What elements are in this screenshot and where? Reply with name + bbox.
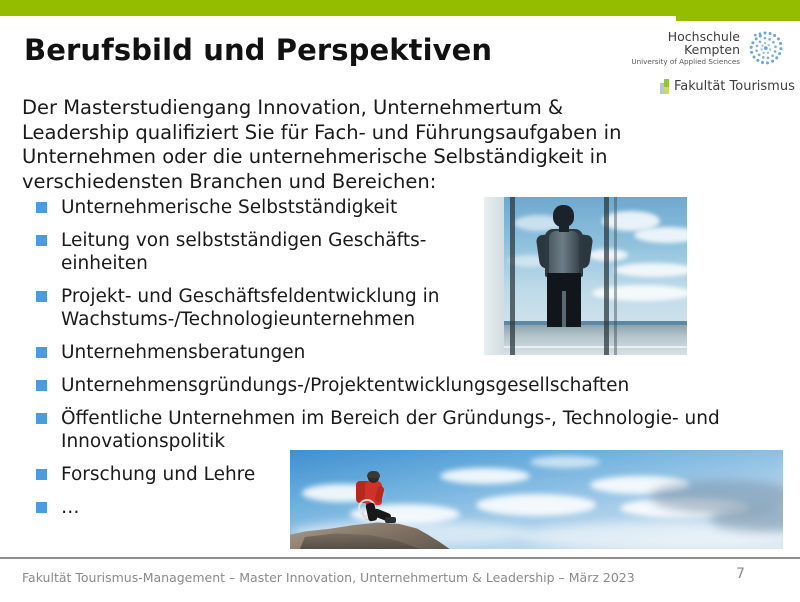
logo-line-2: Kempten	[631, 43, 740, 56]
list-item: Öffentliche Unternehmen im Bereich der G…	[34, 407, 764, 453]
bullet-square-icon	[36, 202, 47, 213]
faculty-label: Fakultät Tourismus	[674, 79, 795, 94]
window-wall	[484, 197, 504, 355]
window-mullion	[614, 197, 617, 355]
page-title: Berufsbild und Perspektiven	[24, 33, 492, 67]
bullet-square-icon	[36, 469, 47, 480]
faculty-flag-icon	[660, 79, 669, 94]
page-number: 7	[736, 566, 745, 582]
climber-figure	[354, 473, 396, 531]
footer-divider	[0, 557, 800, 559]
window-mullion	[604, 197, 609, 355]
list-item-line-1: Unternehmensgründungs-/Projektentwicklun…	[61, 374, 764, 397]
bullet-square-icon	[36, 347, 47, 358]
logo-subtitle: University of Applied Sciences	[631, 57, 740, 67]
list-item-line-1: Öffentliche Unternehmen im Bereich der G…	[61, 407, 764, 430]
list-item: Unternehmensgründungs-/Projektentwicklun…	[34, 374, 764, 397]
institution-logo: Hochschule Kempten University of Applied…	[658, 28, 786, 94]
faculty-badge: Fakultät Tourismus	[658, 79, 786, 94]
logo-row: Hochschule Kempten University of Applied…	[658, 28, 786, 70]
spiral-dots-icon	[744, 28, 786, 70]
silhouette-person	[536, 205, 592, 327]
window-mullion	[510, 197, 515, 355]
intro-paragraph: Der Masterstudiengang Innovation, Untern…	[22, 96, 670, 194]
bullet-square-icon	[36, 291, 47, 302]
slide: Berufsbild und Perspektiven Hochschule K…	[0, 0, 800, 602]
footer-text: Fakultät Tourismus-Management – Master I…	[22, 570, 635, 585]
bullet-square-icon	[36, 502, 47, 513]
bullet-square-icon	[36, 235, 47, 246]
photo-climber-on-summit	[290, 450, 783, 549]
header-green-bar-right	[676, 0, 800, 21]
bullet-square-icon	[36, 380, 47, 391]
header-green-bar-left	[0, 0, 676, 16]
photo-man-at-window	[484, 197, 687, 355]
bullet-square-icon	[36, 413, 47, 424]
logo-wordmark: Hochschule Kempten University of Applied…	[631, 28, 744, 67]
